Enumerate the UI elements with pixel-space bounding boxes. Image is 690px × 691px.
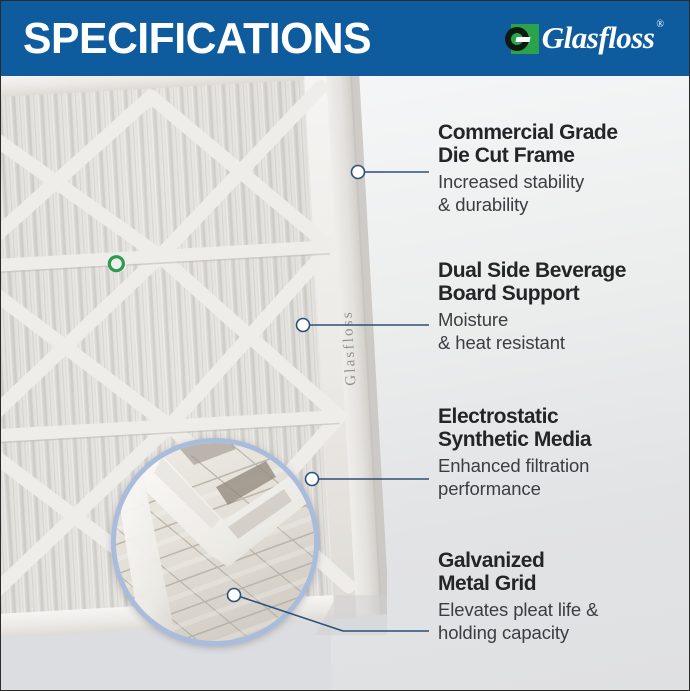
- magnified-media-inset: [111, 438, 319, 646]
- spec-title: Dual Side Beverage Board Support: [438, 259, 688, 305]
- spec-block-commercial-grade-die-cut-frame: Commercial Grade Die Cut Frame Increased…: [438, 121, 688, 217]
- page-title: SPECIFICATIONS: [23, 17, 371, 61]
- spec-title: Galvanized Metal Grid: [438, 549, 688, 595]
- spec-body: Increased stability & durability: [438, 171, 688, 217]
- header-bar: SPECIFICATIONS Glasfloss ®: [1, 1, 690, 76]
- trademark-symbol: ®: [656, 19, 664, 30]
- brand-logo: Glasfloss ®: [505, 23, 665, 54]
- spec-block-galvanized-metal-grid: Galvanized Metal Grid Elevates pleat lif…: [438, 549, 688, 645]
- spec-block-electrostatic-synthetic-media: Electrostatic Synthetic Media Enhanced f…: [438, 405, 688, 501]
- spec-block-dual-side-beverage-board-support: Dual Side Beverage Board Support Moistur…: [438, 259, 688, 355]
- spec-title: Electrostatic Synthetic Media: [438, 405, 688, 451]
- specifications-poster: SPECIFICATIONS Glasfloss ®: [0, 0, 690, 691]
- brand-name: Glasfloss: [542, 22, 655, 53]
- glasfloss-g-logo-icon: [505, 24, 539, 54]
- spec-body: Enhanced filtration performance: [438, 455, 688, 501]
- spec-title: Commercial Grade Die Cut Frame: [438, 121, 688, 167]
- spec-body: Moisture & heat resistant: [438, 309, 688, 355]
- spec-body: Elevates pleat life & holding capacity: [438, 599, 688, 645]
